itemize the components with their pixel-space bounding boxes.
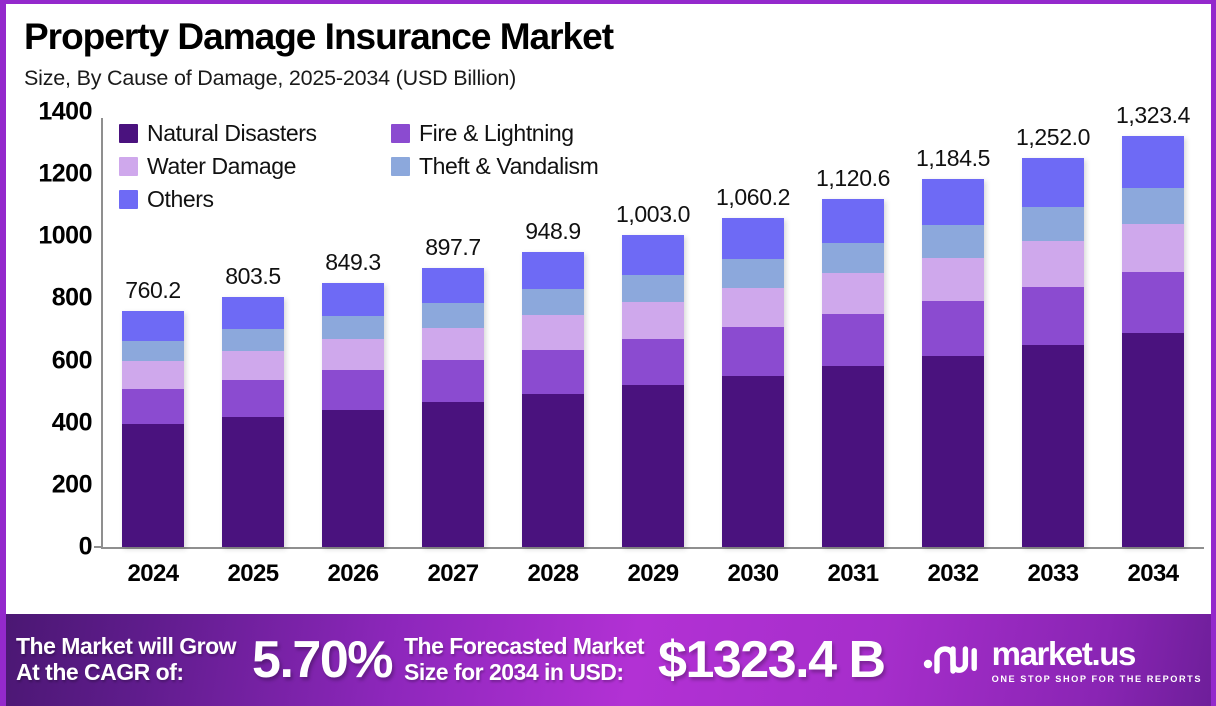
- bar-segment[interactable]: [422, 328, 484, 361]
- bar-segment[interactable]: [222, 417, 284, 547]
- legend-item-label: Fire & Lightning: [419, 120, 574, 147]
- bar-segment[interactable]: [322, 283, 384, 316]
- legend-item[interactable]: Theft & Vandalism: [391, 150, 679, 183]
- bar-segment[interactable]: [422, 402, 484, 547]
- chart-header: Property Damage Insurance Market Size, B…: [6, 4, 1211, 91]
- cagr-caption-line1: The Market will Grow: [16, 634, 236, 660]
- market-us-logomark-icon: [921, 640, 983, 681]
- bar-segment[interactable]: [622, 302, 684, 339]
- bar-segment[interactable]: [322, 410, 384, 547]
- x-axis-tick-label: 2026: [303, 560, 403, 588]
- bar-segment[interactable]: [822, 314, 884, 366]
- chart-subtitle: Size, By Cause of Damage, 2025-2034 (USD…: [24, 66, 1211, 91]
- x-axis-tick-label: 2032: [903, 560, 1003, 588]
- bar-segment[interactable]: [722, 376, 784, 547]
- bar-segment[interactable]: [222, 351, 284, 380]
- bar-segment[interactable]: [122, 424, 184, 547]
- brand-tagline: ONE STOP SHOP FOR THE REPORTS: [992, 674, 1202, 684]
- legend-swatch-icon: [119, 157, 138, 176]
- forecast-caption-line1: The Forecasted Market: [404, 634, 644, 660]
- legend-item-label: Natural Disasters: [147, 120, 317, 147]
- y-axis-tick-label: 1200: [38, 160, 92, 189]
- stacked-bar[interactable]: [122, 311, 184, 547]
- bar-segment[interactable]: [522, 394, 584, 547]
- y-axis-tick-label: 600: [52, 346, 92, 375]
- x-axis-tick-label: 2030: [703, 560, 803, 588]
- bar-segment[interactable]: [522, 289, 584, 315]
- bar-segment[interactable]: [1022, 287, 1084, 345]
- stacked-bar[interactable]: [322, 283, 384, 547]
- bar-total-label: 948.9: [525, 218, 581, 245]
- stacked-bar[interactable]: [222, 297, 284, 547]
- bar-total-label: 803.5: [225, 263, 281, 290]
- page-title: Property Damage Insurance Market: [24, 18, 1211, 57]
- bar-segment[interactable]: [722, 327, 784, 376]
- legend-item-label: Others: [147, 186, 214, 213]
- bar-total-label: 1,120.6: [816, 165, 890, 192]
- bar-total-label: 1,323.4: [1116, 102, 1190, 129]
- bar-segment[interactable]: [822, 199, 884, 243]
- x-axis-tick-label: 2034: [1103, 560, 1203, 588]
- bar-segment[interactable]: [622, 339, 684, 385]
- bar-segment[interactable]: [822, 243, 884, 274]
- infographic-page: Property Damage Insurance Market Size, B…: [0, 0, 1216, 706]
- bar-total-label: 1,184.5: [916, 145, 990, 172]
- bar-segment[interactable]: [322, 316, 384, 339]
- bar-segment[interactable]: [422, 268, 484, 303]
- bar-total-label: 760.2: [125, 277, 181, 304]
- bar-column[interactable]: 1,252.0: [1003, 112, 1103, 547]
- legend-item[interactable]: Others: [119, 183, 391, 216]
- bar-segment[interactable]: [622, 385, 684, 547]
- stacked-bar[interactable]: [422, 268, 484, 547]
- stacked-bar[interactable]: [622, 235, 684, 547]
- bar-segment[interactable]: [822, 366, 884, 547]
- bar-segment[interactable]: [522, 252, 584, 289]
- y-axis-labels: 0200400600800100012001400: [6, 112, 92, 552]
- brand-logo[interactable]: market.us ONE STOP SHOP FOR THE REPORTS: [921, 637, 1202, 684]
- bar-segment[interactable]: [922, 301, 984, 356]
- legend-swatch-icon: [391, 157, 410, 176]
- legend-swatch-icon: [391, 124, 410, 143]
- stacked-bar[interactable]: [1122, 136, 1184, 547]
- x-axis-line: [101, 547, 1204, 549]
- bar-segment[interactable]: [522, 350, 584, 394]
- cagr-caption-line2: At the CAGR of:: [16, 660, 236, 686]
- bar-segment[interactable]: [622, 235, 684, 274]
- bar-segment[interactable]: [922, 225, 984, 257]
- x-axis-tick-label: 2031: [803, 560, 903, 588]
- bar-segment[interactable]: [622, 275, 684, 302]
- x-axis-tick-label: 2025: [203, 560, 303, 588]
- bar-segment[interactable]: [1122, 136, 1184, 188]
- legend-swatch-icon: [119, 124, 138, 143]
- bar-total-label: 1,252.0: [1016, 124, 1090, 151]
- y-axis-tick-label: 0: [79, 533, 92, 562]
- chart-legend: Natural DisastersFire & LightningWater D…: [119, 117, 679, 216]
- bar-segment[interactable]: [222, 380, 284, 417]
- bar-segment[interactable]: [1122, 272, 1184, 333]
- bar-segment[interactable]: [1022, 345, 1084, 547]
- bar-segment[interactable]: [322, 370, 384, 409]
- bar-total-label: 897.7: [425, 234, 481, 261]
- forecast-caption: The Forecasted Market Size for 2034 in U…: [404, 634, 644, 686]
- stacked-bar[interactable]: [722, 218, 784, 547]
- y-axis-tick-label: 800: [52, 284, 92, 313]
- bar-column[interactable]: 1,323.4: [1103, 112, 1203, 547]
- bar-segment[interactable]: [1122, 224, 1184, 272]
- y-axis-tick-label: 200: [52, 470, 92, 499]
- brand-name: market.us: [992, 637, 1202, 670]
- y-axis-tick-label: 400: [52, 408, 92, 437]
- bar-segment[interactable]: [922, 356, 984, 547]
- cagr-caption: The Market will Grow At the CAGR of:: [16, 634, 236, 686]
- forecast-caption-line2: Size for 2034 in USD:: [404, 660, 644, 686]
- bar-segment[interactable]: [722, 288, 784, 327]
- stacked-bar[interactable]: [1022, 158, 1084, 547]
- legend-item-label: Theft & Vandalism: [419, 153, 598, 180]
- bar-column[interactable]: 1,060.2: [703, 112, 803, 547]
- x-axis-labels: 2024202520262027202820292030203120322033…: [103, 560, 1203, 596]
- bar-segment[interactable]: [922, 179, 984, 225]
- bar-segment[interactable]: [1122, 333, 1184, 547]
- bar-segment[interactable]: [822, 273, 884, 314]
- legend-swatch-icon: [119, 190, 138, 209]
- bar-segment[interactable]: [222, 297, 284, 328]
- bar-segment[interactable]: [122, 311, 184, 341]
- x-axis-tick-label: 2028: [503, 560, 603, 588]
- bar-segment[interactable]: [722, 259, 784, 288]
- bar-segment[interactable]: [1022, 207, 1084, 241]
- bar-total-label: 1,060.2: [716, 184, 790, 211]
- bar-segment[interactable]: [522, 315, 584, 350]
- legend-item[interactable]: Water Damage: [119, 150, 391, 183]
- cagr-value: 5.70%: [252, 634, 392, 686]
- y-axis-tick-label: 1400: [38, 98, 92, 127]
- bar-segment[interactable]: [1022, 158, 1084, 207]
- legend-item-label: Water Damage: [147, 153, 296, 180]
- y-axis-tick-label: 1000: [38, 222, 92, 251]
- bar-segment[interactable]: [222, 329, 284, 351]
- x-axis-tick-label: 2029: [603, 560, 703, 588]
- bar-segment[interactable]: [422, 303, 484, 328]
- stacked-bar[interactable]: [922, 179, 984, 547]
- bar-segment[interactable]: [1022, 241, 1084, 287]
- bar-segment[interactable]: [122, 389, 184, 424]
- x-axis-tick-label: 2024: [103, 560, 203, 588]
- brand-text: market.us ONE STOP SHOP FOR THE REPORTS: [992, 637, 1202, 684]
- x-axis-tick-label: 2033: [1003, 560, 1103, 588]
- bar-segment[interactable]: [122, 341, 184, 362]
- stacked-bar[interactable]: [522, 252, 584, 547]
- bar-segment[interactable]: [1122, 188, 1184, 224]
- bar-total-label: 849.3: [325, 249, 381, 276]
- bar-column[interactable]: 1,120.6: [803, 112, 903, 547]
- forecast-value: $1323.4 B: [658, 634, 884, 686]
- bar-segment[interactable]: [922, 258, 984, 301]
- bar-segment[interactable]: [122, 361, 184, 389]
- bar-segment[interactable]: [322, 339, 384, 370]
- stacked-bar[interactable]: [822, 199, 884, 547]
- y-axis-tick-mark: [94, 546, 102, 548]
- bar-column[interactable]: 1,184.5: [903, 112, 1003, 547]
- footer-banner: The Market will Grow At the CAGR of: 5.7…: [0, 614, 1216, 706]
- legend-item[interactable]: Natural Disasters: [119, 117, 391, 150]
- x-axis-tick-label: 2027: [403, 560, 503, 588]
- bar-segment[interactable]: [722, 218, 784, 259]
- bar-segment[interactable]: [422, 360, 484, 401]
- legend-item[interactable]: Fire & Lightning: [391, 117, 679, 150]
